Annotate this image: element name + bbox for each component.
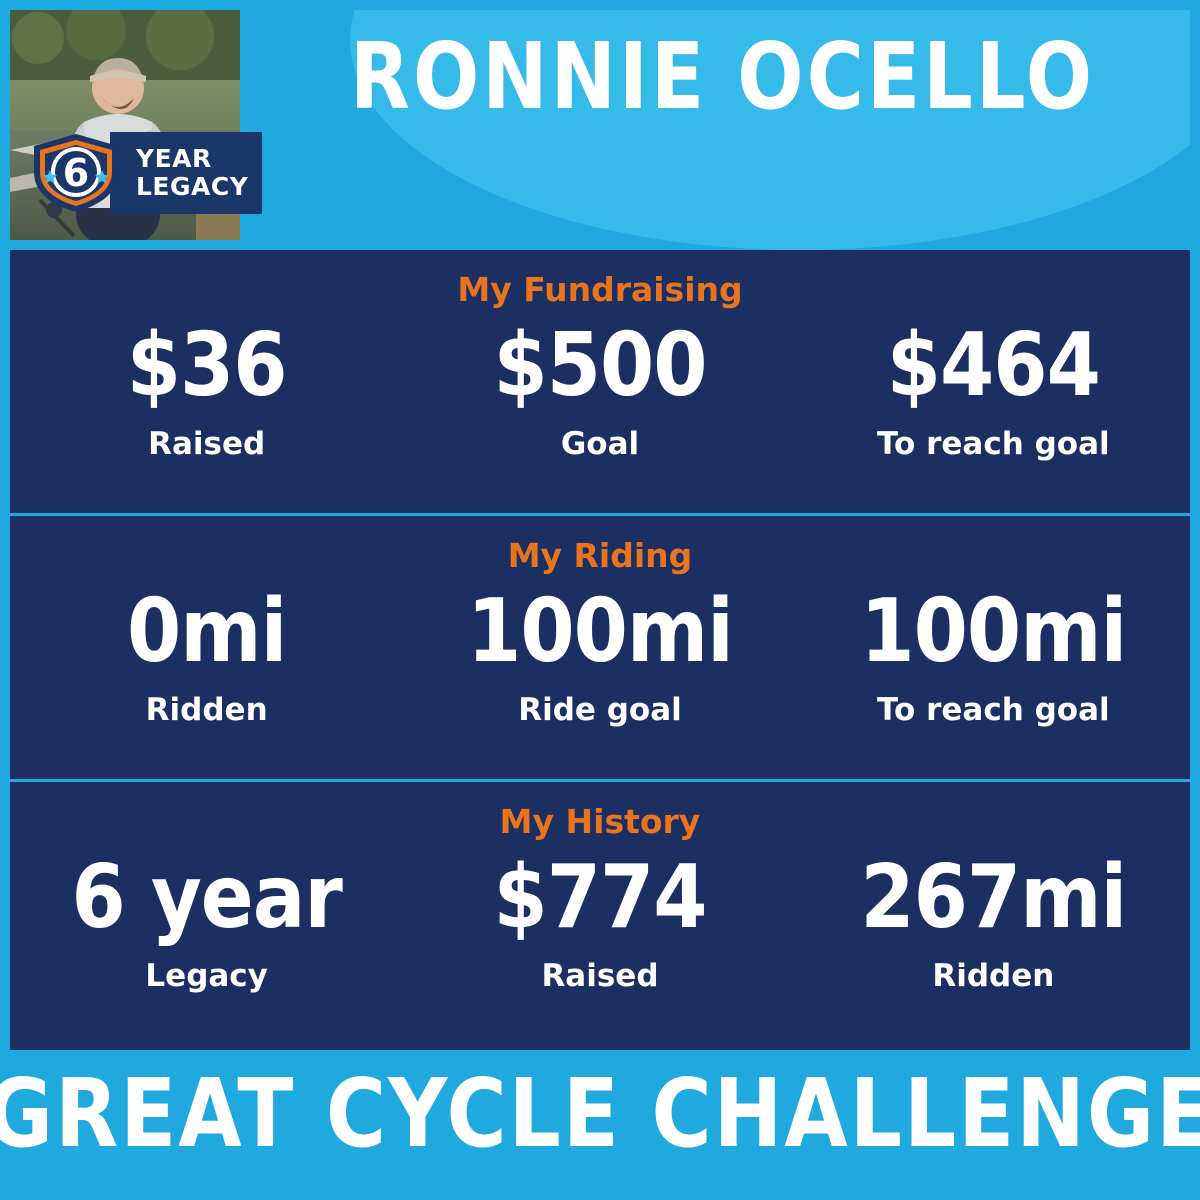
header-text-block: RONNIE OCELLO xyxy=(255,10,1190,240)
stat-label: Legacy xyxy=(10,956,403,996)
stat-label: Ridden xyxy=(797,956,1190,996)
section-title-fundraising: My Fundraising xyxy=(10,270,1190,310)
stat-goal: $500 Goal xyxy=(403,318,796,464)
legacy-legacy-label: LEGACY xyxy=(136,173,248,201)
stat-value: 0mi xyxy=(10,578,403,686)
shield-icon: 6 xyxy=(30,132,122,214)
poster-footer: GREAT CYCLE CHALLENGE xyxy=(10,1050,1190,1180)
stat-to-reach-goal: $464 To reach goal xyxy=(797,318,1190,464)
poster-header: RONNIE OCELLO 6 YEAR LEGACY xyxy=(10,10,1190,250)
stat-value: 100mi xyxy=(403,578,796,686)
legacy-badge: 6 YEAR LEGACY xyxy=(30,132,262,214)
stat-value: 6 year xyxy=(10,844,403,952)
stats-row-history: 6 year Legacy $774 Raised 267mi Ridden xyxy=(10,850,1190,996)
section-title-history: My History xyxy=(10,802,1190,842)
stat-miles-to-reach-goal: 100mi To reach goal xyxy=(797,584,1190,730)
stat-label: Goal xyxy=(403,424,796,464)
stat-legacy: 6 year Legacy xyxy=(10,850,403,996)
stat-ridden: 0mi Ridden xyxy=(10,584,403,730)
stat-label: Ridden xyxy=(10,690,403,730)
stats-row-riding: 0mi Ridden 100mi Ride goal 100mi To reac… xyxy=(10,584,1190,730)
stat-value: 267mi xyxy=(797,844,1190,952)
stat-label: Ride goal xyxy=(403,690,796,730)
stat-label: Raised xyxy=(403,956,796,996)
stat-value: $500 xyxy=(403,312,796,420)
section-history: My History 6 year Legacy $774 Raised 267… xyxy=(10,782,1190,1048)
badge-number-text: 6 xyxy=(63,151,89,195)
legacy-year-label: YEAR xyxy=(136,145,248,173)
stat-label: To reach goal xyxy=(797,424,1190,464)
stats-panel: My Fundraising $36 Raised $500 Goal $464… xyxy=(10,250,1190,1050)
legacy-plate: YEAR LEGACY xyxy=(110,132,262,214)
stat-ride-goal: 100mi Ride goal xyxy=(403,584,796,730)
stat-total-ridden: 267mi Ridden xyxy=(797,850,1190,996)
section-title-riding: My Riding xyxy=(10,536,1190,576)
stat-value: $774 xyxy=(403,844,796,952)
section-fundraising: My Fundraising $36 Raised $500 Goal $464… xyxy=(10,250,1190,516)
event-title: GREAT CYCLE CHALLENGE xyxy=(0,1063,1200,1167)
stat-total-raised: $774 Raised xyxy=(403,850,796,996)
stat-value: 100mi xyxy=(797,578,1190,686)
stat-raised: $36 Raised xyxy=(10,318,403,464)
page-title: RONNIE OCELLO xyxy=(255,10,1190,128)
stats-row-fundraising: $36 Raised $500 Goal $464 To reach goal xyxy=(10,318,1190,464)
fundraiser-poster: RONNIE OCELLO 6 YEAR LEGACY xyxy=(0,0,1200,1200)
stat-label: To reach goal xyxy=(797,690,1190,730)
stat-label: Raised xyxy=(10,424,403,464)
section-riding: My Riding 0mi Ridden 100mi Ride goal 100… xyxy=(10,516,1190,782)
stat-value: $464 xyxy=(797,312,1190,420)
stat-value: $36 xyxy=(10,312,403,420)
